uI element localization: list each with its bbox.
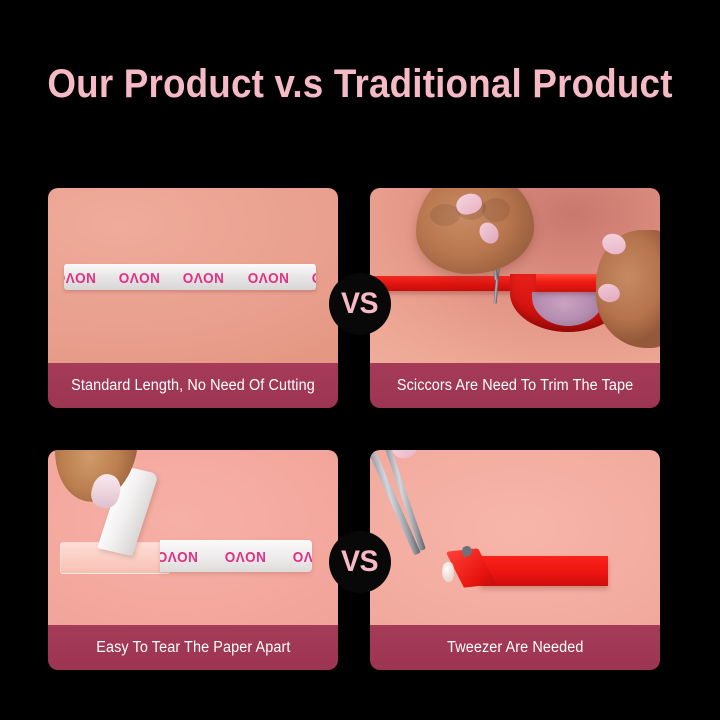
product-comparison-poster: Our Product v.s Traditional Product NOVO… — [0, 0, 720, 720]
caption-bar: Standard Length, No Need Of Cutting — [48, 363, 338, 408]
brand-text: NOVO — [247, 269, 289, 286]
page-title: Our Product v.s Traditional Product — [29, 62, 691, 107]
product-photo-scissors-cutting — [370, 188, 660, 363]
caption-bar: Tweezer Are Needed — [370, 625, 660, 670]
brand-text: NOVO — [160, 548, 198, 565]
product-photo-peeling-backing: NOVO NOVO NOVO — [48, 450, 338, 625]
brand-text: NOVO — [118, 269, 160, 286]
brand-text: NOVO — [311, 269, 316, 286]
vs-badge-row-2: VS — [329, 531, 391, 593]
product-photo-standard-length: NOVO NOVO NOVO NOVO NOVO — [48, 188, 338, 363]
brand-print-row: NOVO NOVO NOVO NOVO NOVO — [64, 265, 316, 289]
caption-text: Standard Length, No Need Of Cutting — [71, 377, 315, 395]
brand-text: NOVO — [293, 548, 312, 565]
comparison-card-our-product-2[interactable]: NOVO NOVO NOVO Easy To Tear The Paper Ap… — [48, 450, 338, 670]
caption-text: Tweezer Are Needed — [447, 639, 583, 657]
caption-text: Sciccors Are Need To Trim The Tape — [397, 377, 633, 395]
product-photo-tweezers-lifting — [370, 450, 660, 625]
brand-text: NOVO — [224, 548, 266, 565]
brand-print-row: NOVO NOVO NOVO — [160, 544, 312, 568]
vs-badge-row-1: VS — [329, 273, 391, 335]
white-tape-strip: NOVO NOVO NOVO NOVO NOVO — [64, 264, 316, 290]
caption-bar: Easy To Tear The Paper Apart — [48, 625, 338, 670]
adhesive-residue — [442, 562, 454, 582]
vs-badge-label: VS — [341, 287, 378, 321]
red-tape-strip — [480, 556, 608, 586]
white-backing-paper: NOVO NOVO NOVO — [160, 540, 312, 572]
caption-bar: Sciccors Are Need To Trim The Tape — [370, 363, 660, 408]
brand-text: NOVO — [183, 269, 225, 286]
comparison-card-our-product-1[interactable]: NOVO NOVO NOVO NOVO NOVO Standard Length… — [48, 188, 338, 408]
comparison-grid: NOVO NOVO NOVO NOVO NOVO Standard Length… — [48, 188, 672, 668]
tape-roll-core — [532, 292, 604, 326]
comparison-card-traditional-product-2[interactable]: Tweezer Are Needed — [370, 450, 660, 670]
vs-badge-label: VS — [341, 545, 378, 579]
brand-text: NOVO — [64, 269, 96, 286]
caption-text: Easy To Tear The Paper Apart — [96, 639, 290, 657]
comparison-card-traditional-product-1[interactable]: Sciccors Are Need To Trim The Tape — [370, 188, 660, 408]
knuckle — [482, 198, 510, 222]
